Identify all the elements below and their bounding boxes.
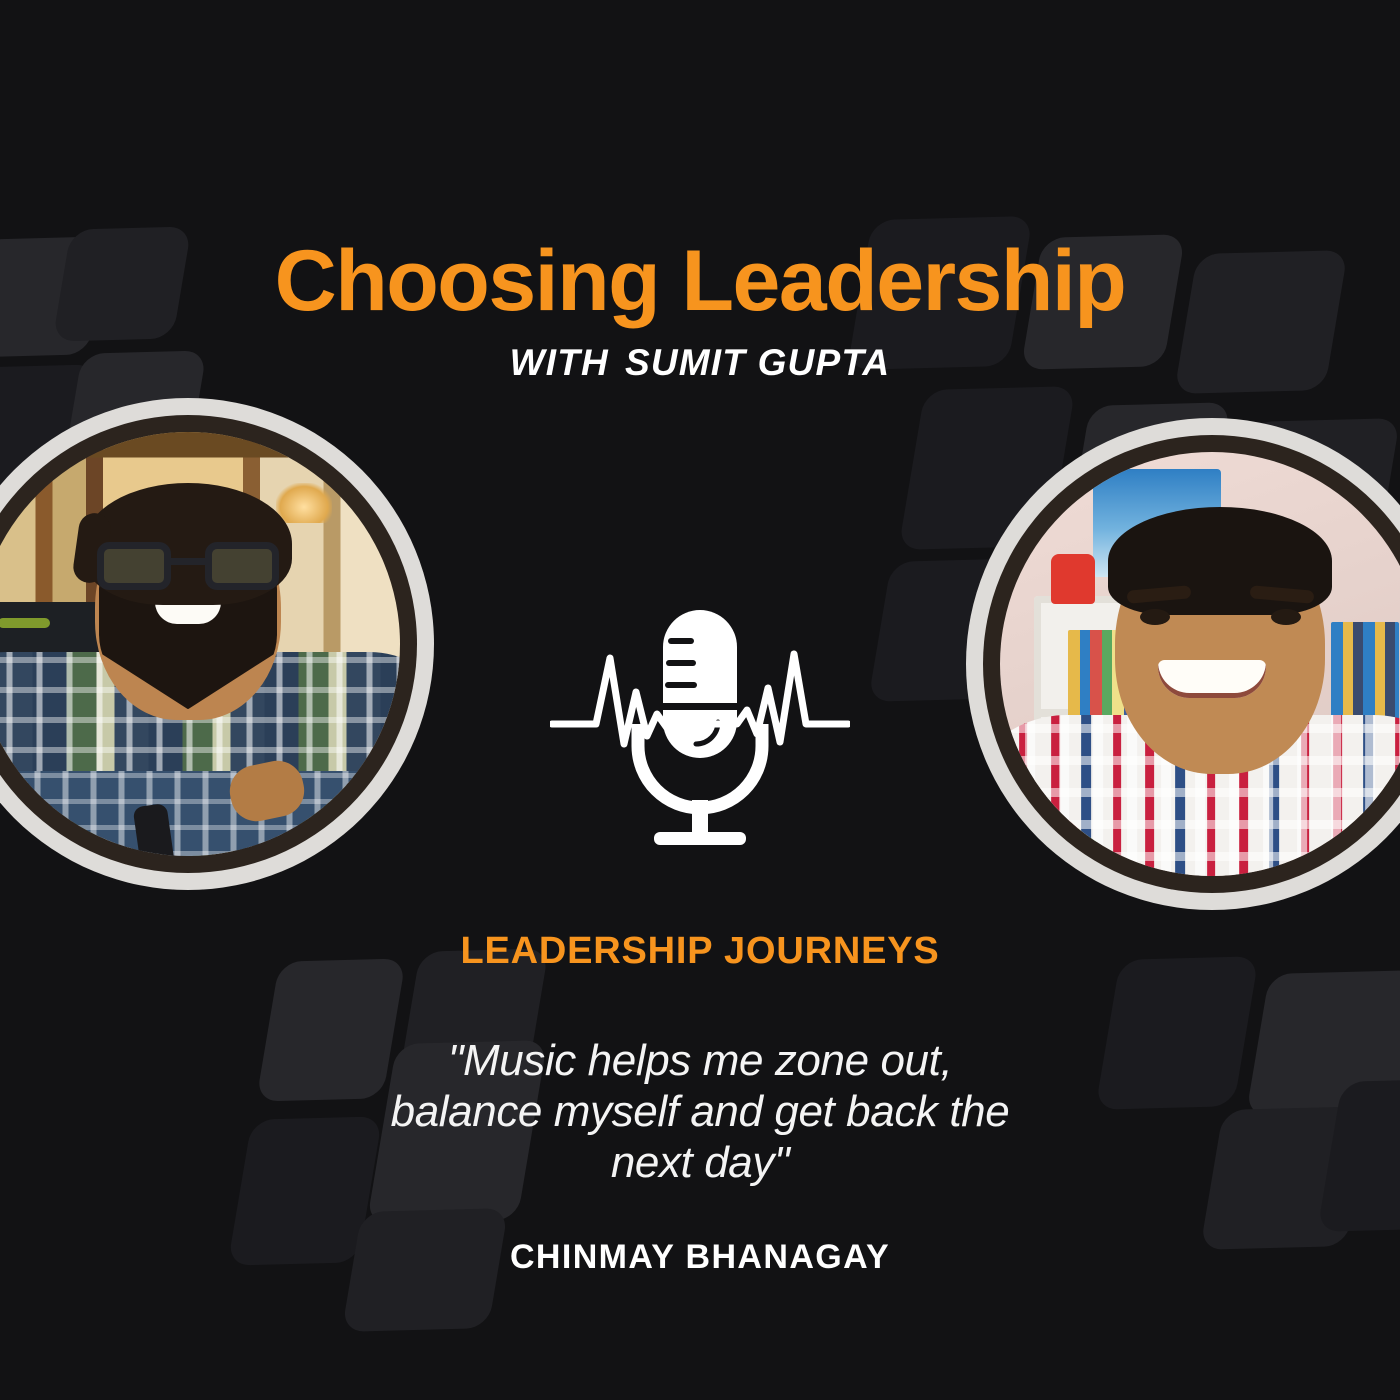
host-line: WITHSUMIT GUPTA — [0, 342, 1400, 384]
page-title: Choosing Leadership — [0, 238, 1400, 324]
microphone-waveform-icon — [550, 602, 850, 857]
guest-photo-subject — [1000, 452, 1400, 876]
host-portrait — [0, 398, 434, 890]
eyeglasses-icon — [97, 542, 279, 590]
podcast-cover-art: Choosing Leadership WITHSUMIT GUPTA — [0, 0, 1400, 1400]
background-tile — [1095, 956, 1259, 1110]
segment-label: LEADERSHIP JOURNEYS — [0, 930, 1400, 973]
guest-photo — [1000, 452, 1400, 876]
background-tile — [1246, 970, 1400, 1116]
episode-quote: "Music helps me zone out, balance myself… — [290, 1035, 1110, 1188]
guest-portrait — [966, 418, 1400, 910]
quote-line: next day" — [290, 1137, 1110, 1188]
host-photo — [0, 432, 400, 856]
guest-name-label: CHINMAY BHANAGAY — [0, 1238, 1400, 1277]
host-portrait-inner-ring — [0, 415, 417, 873]
quote-line: balance myself and get back the — [290, 1086, 1110, 1137]
host-photo-subject — [0, 432, 400, 856]
host-prefix-label: WITH — [510, 342, 609, 383]
background-tile — [1317, 1078, 1400, 1232]
guest-portrait-inner-ring — [983, 435, 1400, 893]
background-tile — [1200, 1106, 1370, 1250]
title-block: Choosing Leadership WITHSUMIT GUPTA — [0, 238, 1400, 384]
host-name-label: SUMIT GUPTA — [625, 342, 890, 383]
quote-line: "Music helps me zone out, — [290, 1035, 1110, 1086]
